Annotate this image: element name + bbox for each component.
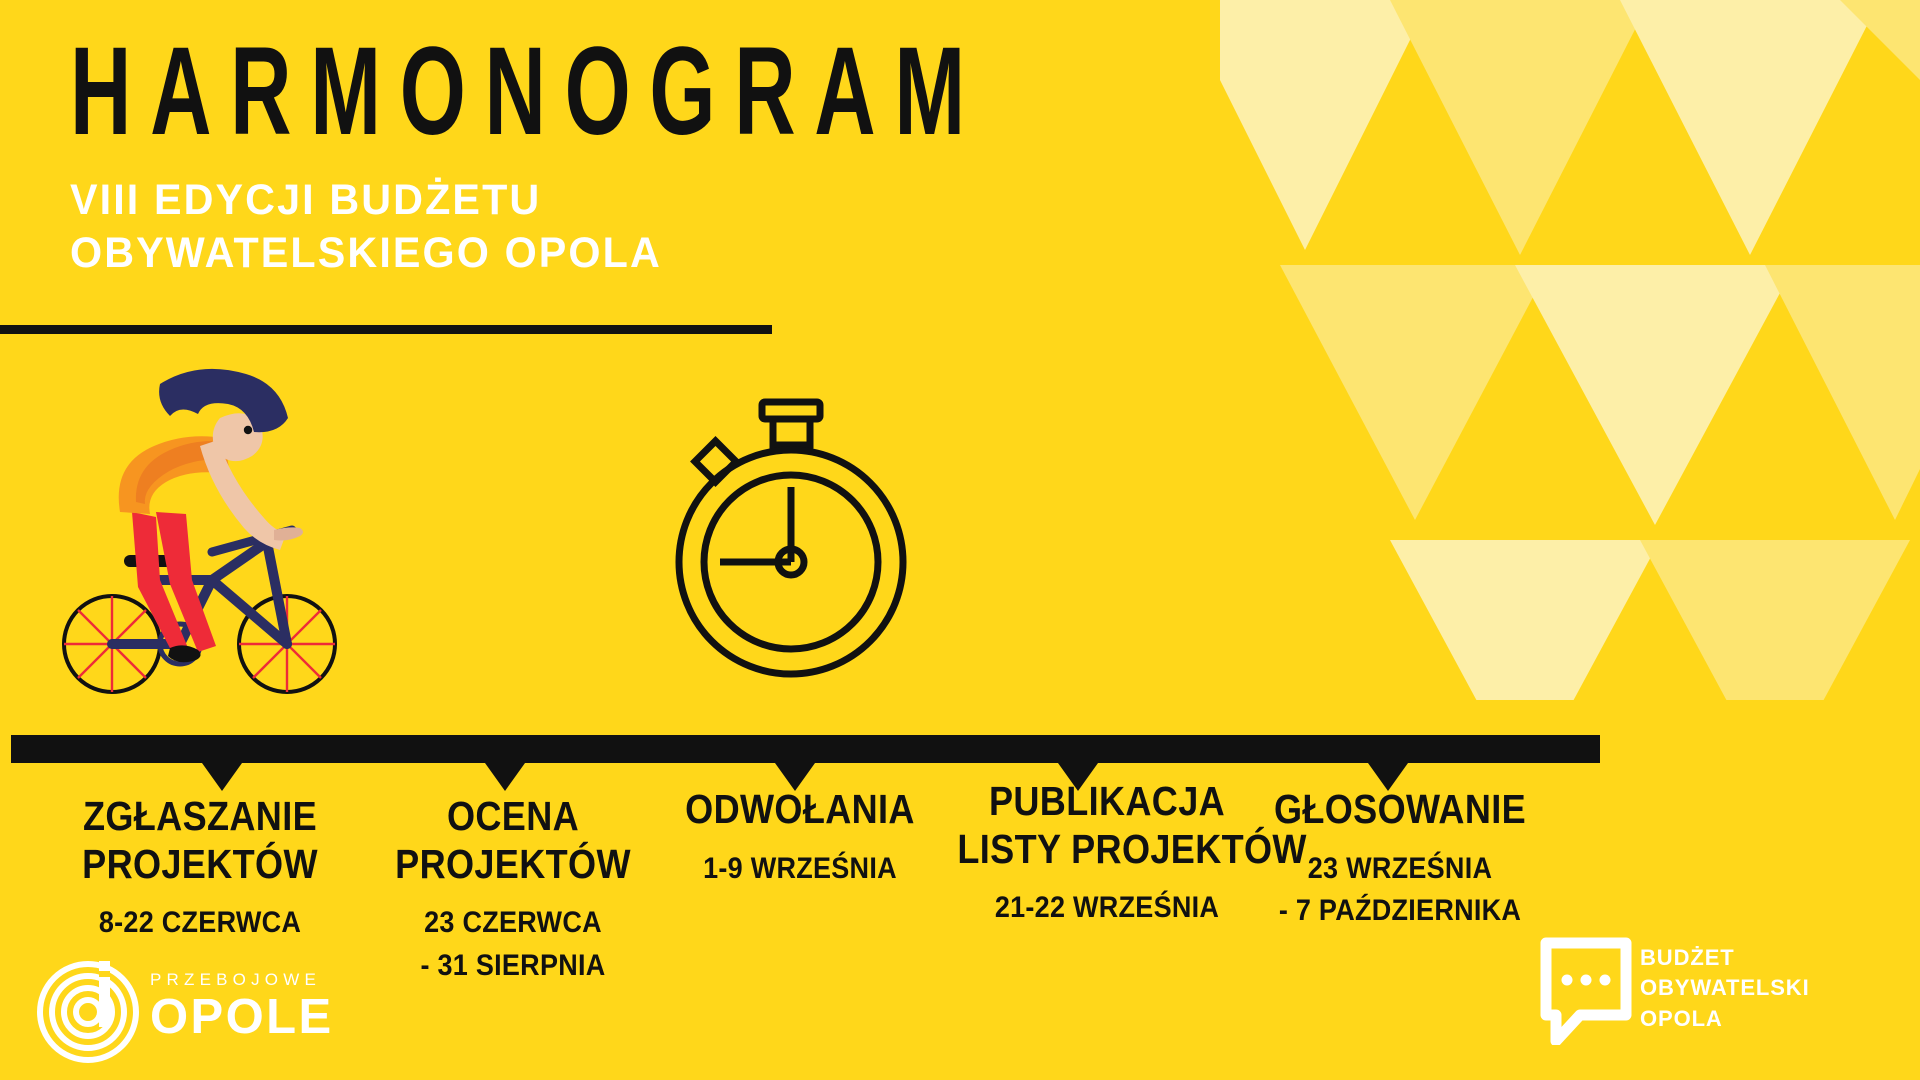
- opole-wordmark: PRZEBOJOWE OPOLE: [150, 971, 334, 1042]
- milestone-title-line: LISTY PROJEKTÓW: [957, 826, 1256, 874]
- milestone-date-line: - 31 SIERPNIA: [374, 945, 653, 988]
- milestone-title-line: PROJEKTÓW: [377, 841, 650, 889]
- bo-wordmark: BUDŻET OBYWATELSKI OPOLA: [1640, 943, 1810, 1034]
- header-divider-rule: [0, 325, 772, 334]
- milestone-title: OCENA PROJEKTÓW: [377, 793, 650, 888]
- milestone-dates: 23 WRZEŚNIA - 7 PAŹDZIERNIKA: [1261, 848, 1540, 933]
- milestone-publikacja: PUBLIKACJA LISTY PROJEKTÓW 21-22 WRZEŚNI…: [937, 778, 1277, 930]
- stopwatch-crown-stem: [773, 419, 810, 445]
- milestone-date-line: 8-22 CZERWCA: [56, 902, 344, 945]
- milestone-date-line: 21-22 WRZEŚNIA: [954, 887, 1260, 930]
- milestone-title-line: OCENA: [377, 793, 650, 841]
- timeline-bar: [11, 735, 1600, 763]
- header: HARMONOGRAM VIII EDYCJI BUDŻETU OBYWATEL…: [70, 28, 1170, 279]
- rider-eye: [244, 426, 252, 434]
- subtitle-line-2: OBYWATELSKIEGO OPOLA: [70, 227, 1126, 279]
- milestone-glosowanie: GŁOSOWANIE 23 WRZEŚNIA - 7 PAŹDZIERNIKA: [1245, 786, 1555, 933]
- milestone-title-line: ODWOŁANIA: [668, 786, 932, 834]
- page-title: HARMONOGRAM: [70, 28, 862, 156]
- page-subtitle: VIII EDYCJI BUDŻETU OBYWATELSKIEGO OPOLA: [70, 174, 1126, 279]
- milestone-title-line: PROJEKTÓW: [59, 841, 341, 889]
- milestone-date-line: 23 CZERWCA: [374, 902, 653, 945]
- milestone-ocena: OCENA PROJEKTÓW 23 CZERWCA - 31 SIERPNIA: [358, 793, 668, 987]
- bo-line: OPOLA: [1640, 1004, 1810, 1034]
- timeline-pointer-1: [202, 763, 242, 791]
- milestone-dates: 8-22 CZERWCA: [56, 902, 344, 945]
- opole-spiral-mark: [36, 959, 141, 1064]
- rider-hand: [274, 527, 303, 540]
- milestone-dates: 1-9 WRZEŚNIA: [665, 848, 935, 891]
- milestone-title: GŁOSOWANIE: [1264, 786, 1537, 834]
- speech-bubble-icon: [1540, 937, 1632, 1045]
- milestone-title: ZGŁASZANIE PROJEKTÓW: [59, 793, 341, 888]
- milestone-title: ODWOŁANIA: [668, 786, 932, 834]
- timeline-pointer-2: [485, 763, 525, 791]
- milestone-zglaszanie: ZGŁASZANIE PROJEKTÓW 8-22 CZERWCA: [40, 793, 360, 945]
- stopwatch-icon: [672, 392, 940, 680]
- milestone-odwolania: ODWOŁANIA 1-9 WRZEŚNIA: [650, 786, 950, 890]
- milestone-title-line: ZGŁASZANIE: [59, 793, 341, 841]
- subtitle-line-1: VIII EDYCJI BUDŻETU: [70, 174, 1126, 226]
- bo-line: OBYWATELSKI: [1640, 973, 1810, 1003]
- rider-shoe: [168, 645, 201, 662]
- milestone-title: PUBLIKACJA LISTY PROJEKTÓW: [957, 778, 1256, 873]
- milestone-dates: 23 CZERWCA - 31 SIERPNIA: [374, 902, 653, 987]
- milestone-date-line: 1-9 WRZEŚNIA: [665, 848, 935, 891]
- bo-line: BUDŻET: [1640, 943, 1810, 973]
- milestone-dates: 21-22 WRZEŚNIA: [954, 887, 1260, 930]
- logo-budzet-obywatelski-opola[interactable]: BUDŻET OBYWATELSKI OPOLA: [1540, 935, 1840, 1055]
- cyclist-illustration: [52, 352, 352, 717]
- milestone-date-line: 23 WRZEŚNIA: [1261, 848, 1540, 891]
- triangle-pattern-decoration: [1220, 0, 1920, 700]
- opole-tagline: PRZEBOJOWE: [150, 971, 334, 988]
- milestone-title-line: GŁOSOWANIE: [1264, 786, 1537, 834]
- opole-name: OPOLE: [150, 993, 334, 1042]
- milestone-title-line: PUBLIKACJA: [957, 778, 1256, 826]
- milestone-date-line: - 7 PAŹDZIERNIKA: [1261, 890, 1540, 933]
- logo-przebojowe-opole[interactable]: PRZEBOJOWE OPOLE: [28, 955, 318, 1070]
